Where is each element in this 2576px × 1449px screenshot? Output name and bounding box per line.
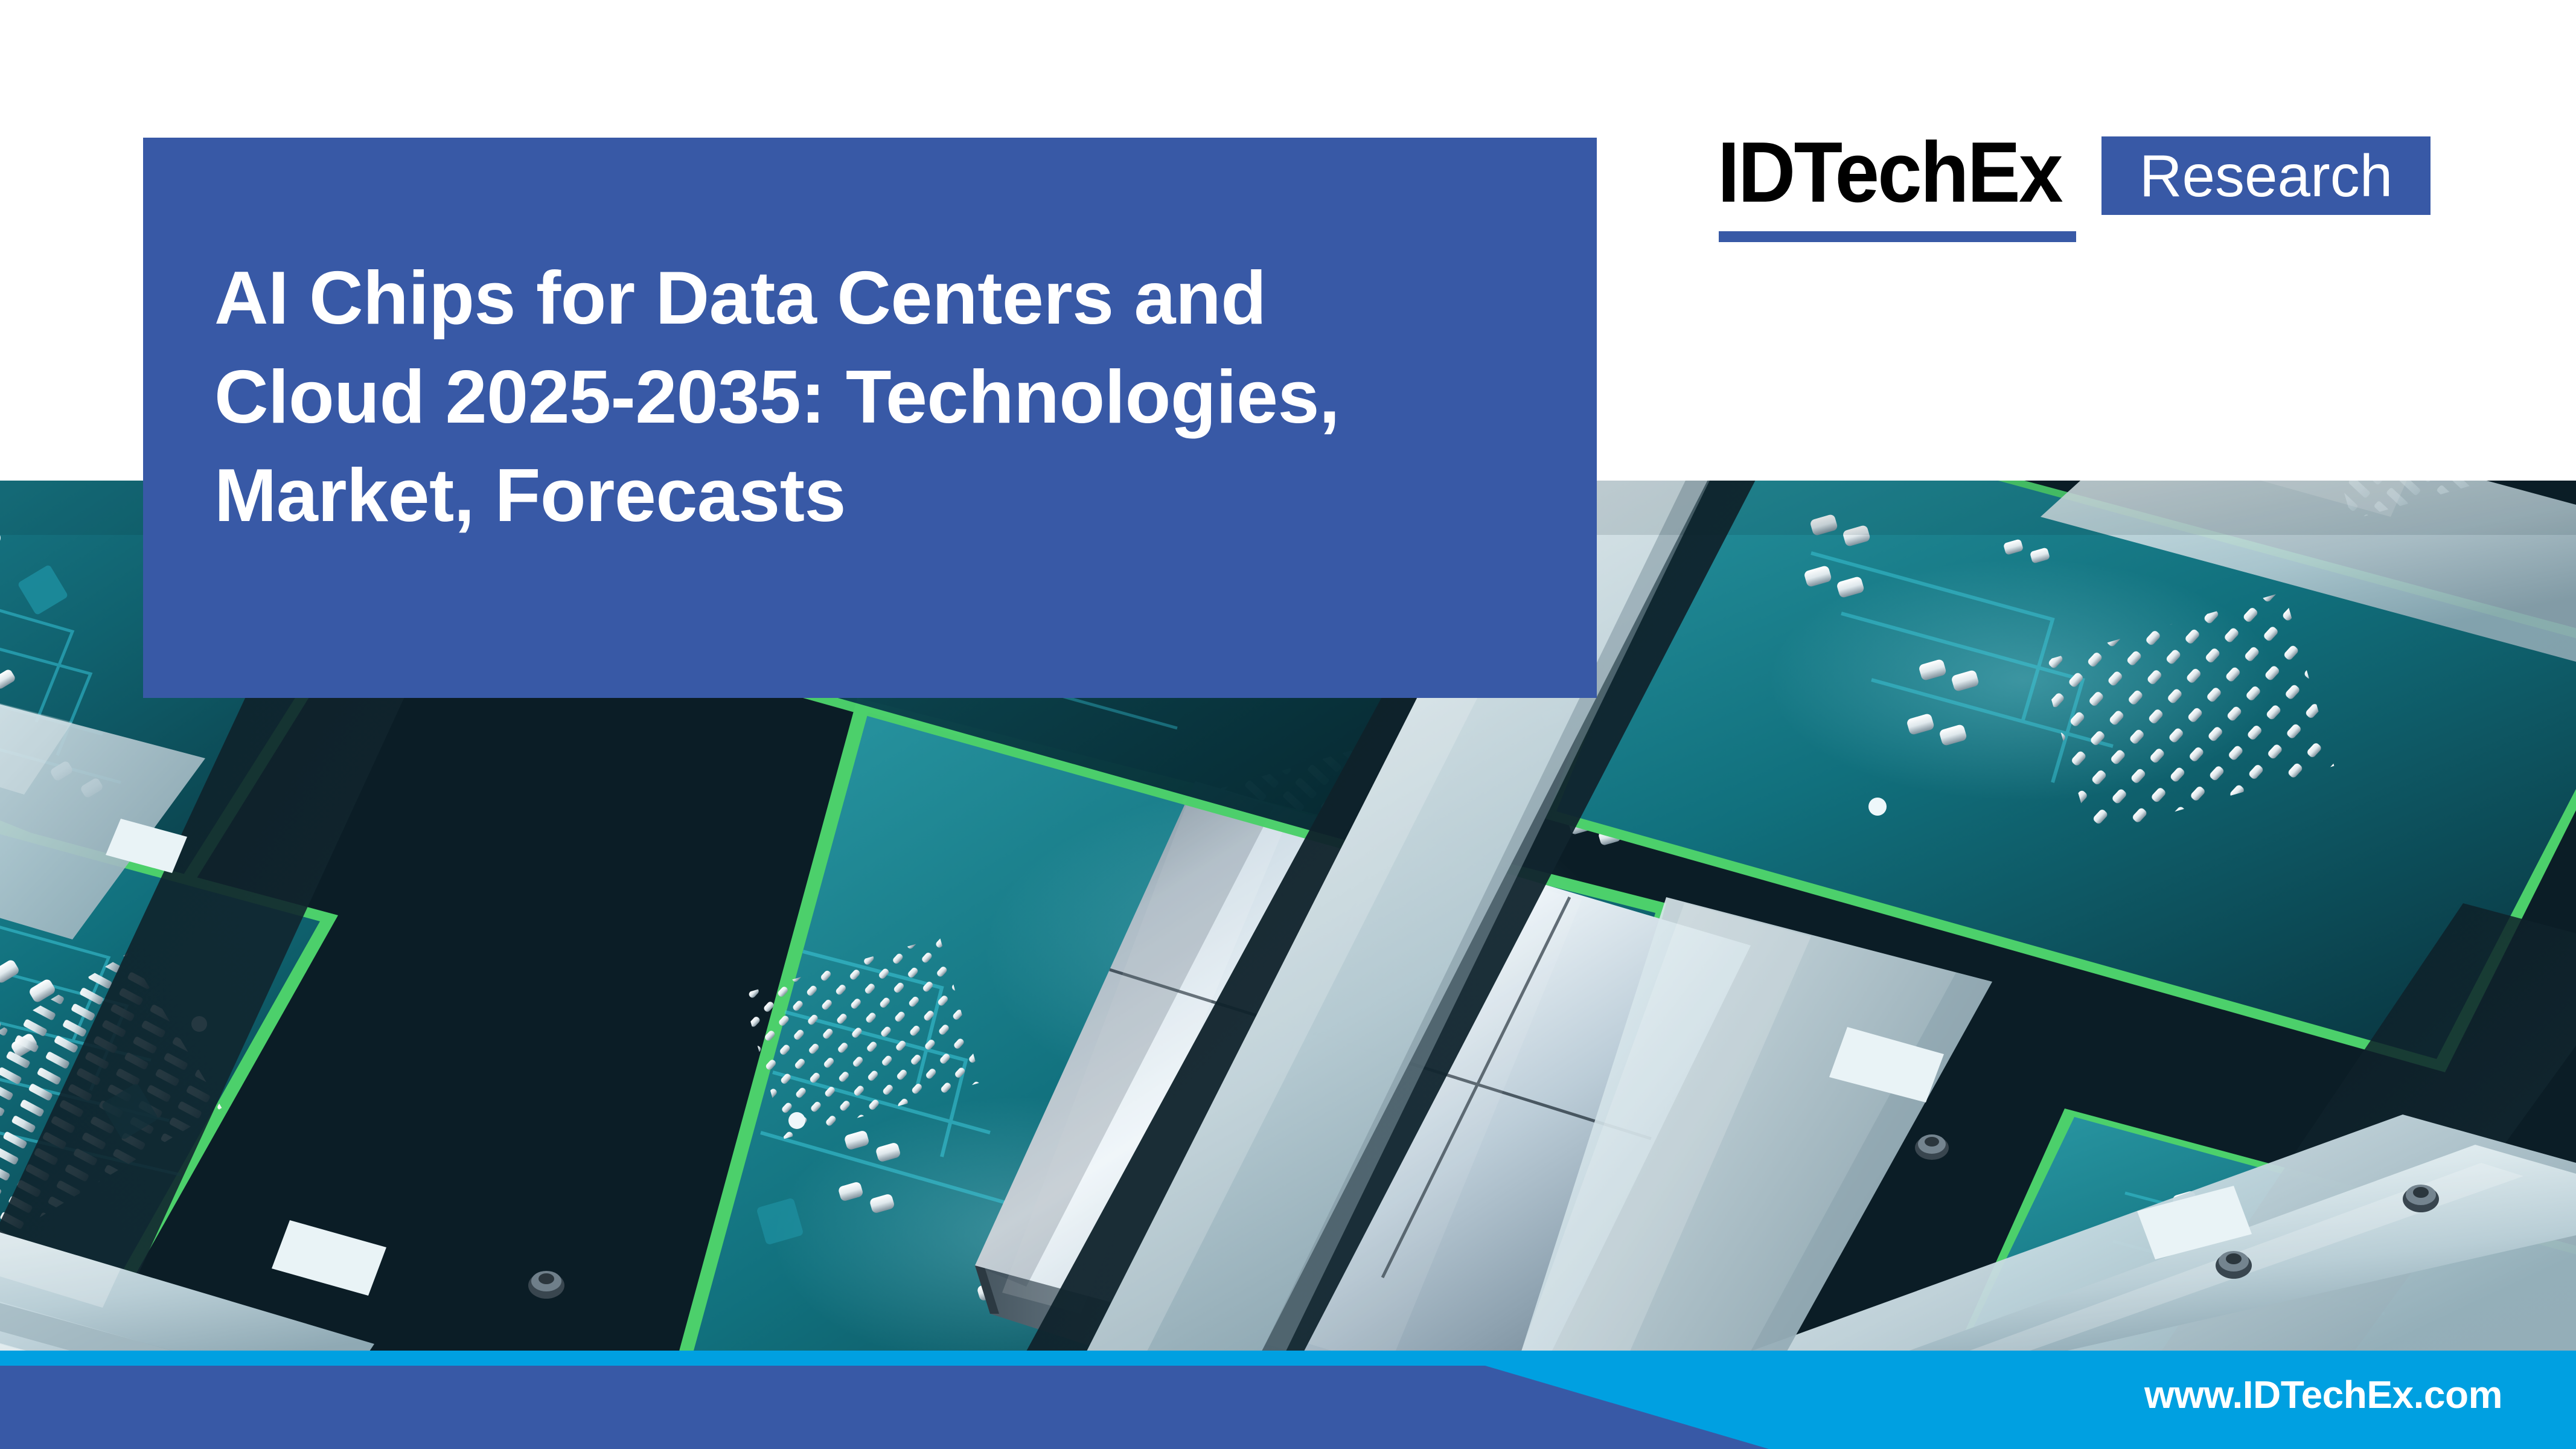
idtechex-wordmark: IDTechEx	[1718, 130, 2062, 216]
page-title: AI Chips for Data Centers and Cloud 2025…	[214, 249, 1542, 546]
research-badge-label: Research	[2140, 146, 2392, 205]
footer-website-url[interactable]: www.IDTechEx.com	[2144, 1375, 2502, 1414]
title-line-1: AI Chips for Data Centers and	[214, 249, 1542, 348]
logo-underline-bar	[1719, 231, 2076, 242]
title-panel: AI Chips for Data Centers and Cloud 2025…	[143, 138, 1597, 698]
title-line-2: Cloud 2025-2035: Technologies,	[214, 348, 1542, 447]
idtechex-logo[interactable]: IDTechEx	[1718, 130, 2088, 216]
title-line-3: Market, Forecasts	[214, 447, 1542, 546]
footer-bar: www.IDTechEx.com	[0, 1351, 2576, 1449]
research-badge: Research	[2101, 136, 2431, 215]
report-cover-slide: AI Chips for Data Centers and Cloud 2025…	[0, 0, 2576, 1449]
idtechex-wordmark-wrap: IDTechEx	[1718, 130, 2088, 216]
